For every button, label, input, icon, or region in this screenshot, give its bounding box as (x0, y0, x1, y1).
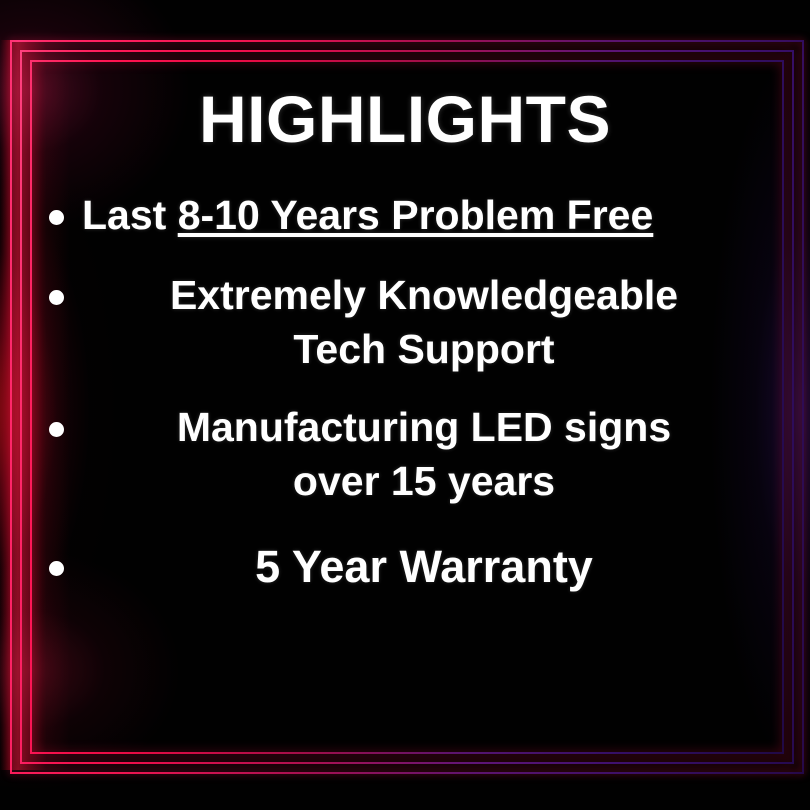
page-title: HIGHLIGHTS (34, 86, 776, 152)
list-item-label: 5 Year Warranty (78, 537, 776, 596)
bullet-2-line-1: Extremely Knowledgeable (170, 272, 678, 318)
bullet-1-emphasis: 8-10 Years Problem Free (178, 192, 654, 238)
bullet-3-line-1: Manufacturing LED signs (177, 404, 671, 450)
list-item: 5 Year Warranty (34, 537, 776, 597)
highlights-list: Last 8-10 Years Problem Free Extremely K… (34, 188, 776, 597)
list-item-label: Manufacturing LED signsover 15 years (78, 400, 776, 508)
highlights-graphic: HIGHLIGHTS Last 8-10 Years Problem Free … (0, 0, 810, 810)
bullet-dot-icon (34, 188, 78, 242)
list-item-label: Extremely KnowledgeableTech Support (78, 268, 776, 376)
list-item: Manufacturing LED signsover 15 years (34, 400, 776, 508)
bullet-2-line-2: Tech Support (293, 326, 554, 372)
bullet-dot-icon (34, 537, 78, 597)
bullet-dot-icon (34, 400, 78, 454)
bullet-1-lead: Last (82, 192, 178, 238)
bullet-dot-icon (34, 268, 78, 322)
list-item: Extremely KnowledgeableTech Support (34, 268, 776, 376)
bullet-3-line-2: over 15 years (293, 458, 555, 504)
list-item-label: Last 8-10 Years Problem Free (78, 188, 776, 242)
list-item: Last 8-10 Years Problem Free (34, 188, 776, 242)
content-area: HIGHLIGHTS Last 8-10 Years Problem Free … (34, 64, 776, 746)
